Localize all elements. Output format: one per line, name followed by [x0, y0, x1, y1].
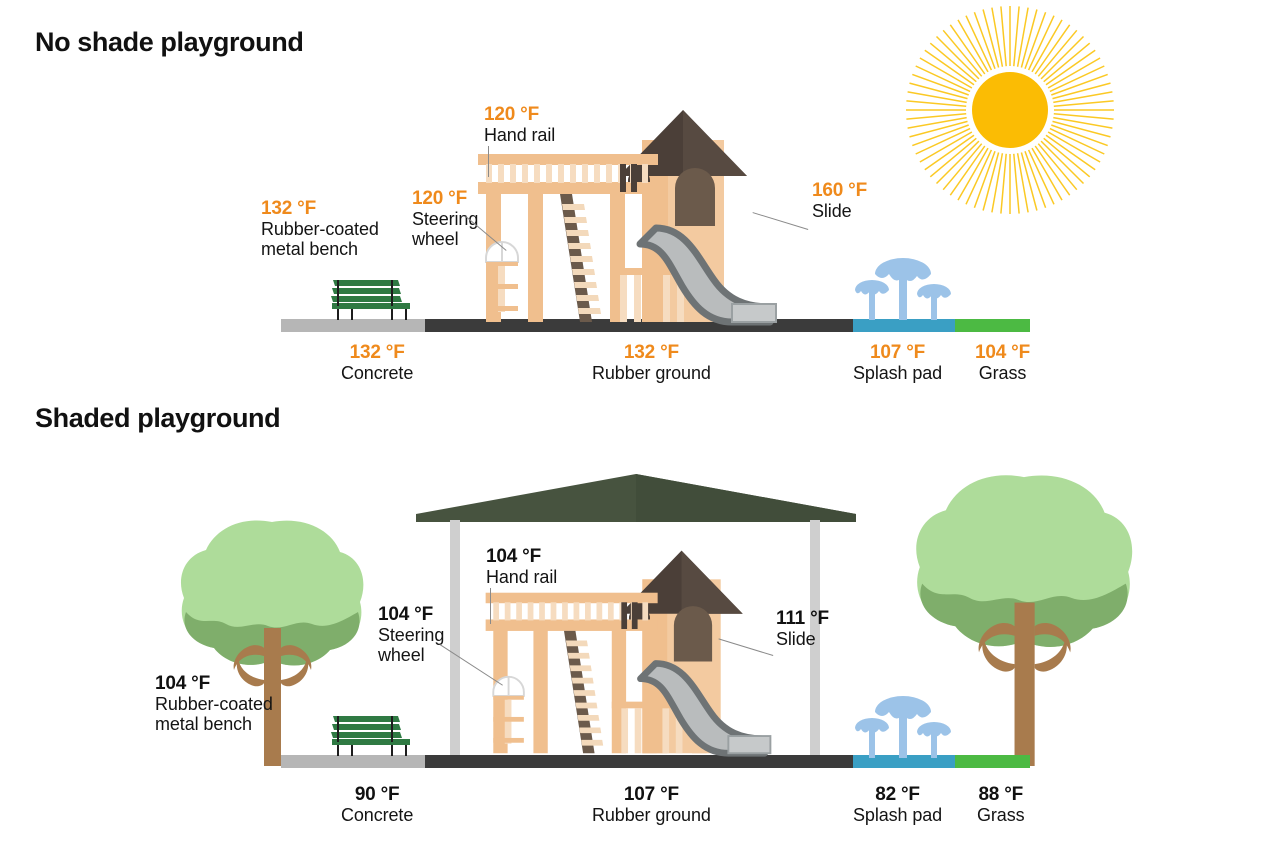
infographic-canvas: No shade playground — [0, 0, 1280, 854]
temp-value: 107 °F — [592, 784, 711, 805]
temp-label: Rubber ground — [592, 363, 711, 383]
temp-label: Hand rail — [484, 125, 555, 145]
temp-label: Steering wheel — [378, 625, 444, 665]
leader-line-hand-rail-shaded — [490, 588, 491, 624]
splash-fountain-icon — [853, 252, 957, 322]
splash-fountain-icon — [853, 690, 957, 760]
ground-strip-grass-no-shade — [955, 319, 1030, 332]
temp-label: Concrete — [341, 805, 413, 825]
temp-value: 120 °F — [484, 104, 555, 125]
section-title-shaded: Shaded playground — [35, 403, 280, 434]
callout-steering-wheel-shaded: 104 °F Steering wheel — [378, 604, 444, 666]
callout-slide-no-shade: 160 °F Slide — [812, 180, 867, 221]
temp-value: 132 °F — [592, 342, 711, 363]
temp-value: 132 °F — [341, 342, 413, 363]
ladder-icon — [560, 194, 601, 322]
temp-value: 104 °F — [155, 673, 273, 694]
park-bench-icon — [326, 712, 418, 758]
temp-label: Rubber-coated metal bench — [155, 694, 273, 734]
ground-strip-grass-shaded — [955, 755, 1030, 768]
temp-value: 111 °F — [776, 608, 829, 629]
temp-label: Grass — [975, 363, 1030, 383]
temp-value: 90 °F — [341, 784, 413, 805]
park-bench-icon — [326, 276, 418, 322]
sun-icon — [905, 5, 1115, 215]
temp-label: Steering wheel — [412, 209, 478, 249]
callout-hand-rail-no-shade: 120 °F Hand rail — [484, 104, 555, 145]
temp-value: 160 °F — [812, 180, 867, 201]
callout-concrete-shaded: 90 °F Concrete — [341, 784, 413, 825]
temp-label: Slide — [812, 201, 867, 221]
temp-label: Hand rail — [486, 567, 557, 587]
temp-value: 104 °F — [378, 604, 444, 625]
temp-label: Splash pad — [853, 363, 942, 383]
temp-label: Concrete — [341, 363, 413, 383]
callout-rubber-ground-shaded: 107 °F Rubber ground — [592, 784, 711, 825]
callout-splash-pad-no-shade: 107 °F Splash pad — [853, 342, 942, 383]
ladder-icon — [564, 631, 603, 753]
callout-rubber-ground-no-shade: 132 °F Rubber ground — [592, 342, 711, 383]
callout-bench-no-shade: 132 °F Rubber-coated metal bench — [261, 198, 379, 260]
temp-label: Rubber-coated metal bench — [261, 219, 379, 259]
temp-value: 120 °F — [412, 188, 478, 209]
temp-value: 107 °F — [853, 342, 942, 363]
temp-value: 82 °F — [853, 784, 942, 805]
leader-line-hand-rail-no-shade — [488, 146, 489, 177]
temp-label: Slide — [776, 629, 829, 649]
temp-value: 104 °F — [975, 342, 1030, 363]
temp-label: Rubber ground — [592, 805, 711, 825]
callout-grass-no-shade: 104 °F Grass — [975, 342, 1030, 383]
temp-label: Grass — [977, 805, 1025, 825]
callout-grass-shaded: 88 °F Grass — [977, 784, 1025, 825]
section-title-no-shade: No shade playground — [35, 27, 303, 58]
callout-splash-pad-shaded: 82 °F Splash pad — [853, 784, 942, 825]
temp-value: 104 °F — [486, 546, 557, 567]
callout-bench-shaded: 104 °F Rubber-coated metal bench — [155, 673, 273, 735]
callout-slide-shaded: 111 °F Slide — [776, 608, 829, 649]
callout-hand-rail-shaded: 104 °F Hand rail — [486, 546, 557, 587]
callout-concrete-no-shade: 132 °F Concrete — [341, 342, 413, 383]
temp-value: 132 °F — [261, 198, 379, 219]
temp-value: 88 °F — [977, 784, 1025, 805]
temp-label: Splash pad — [853, 805, 942, 825]
